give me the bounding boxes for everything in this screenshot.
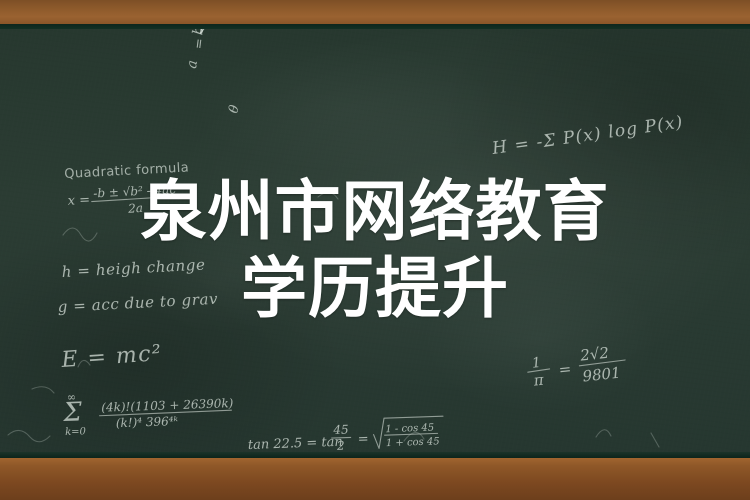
chalk-triangle-equals: = xyxy=(191,37,207,50)
chalk-tangent-radical-num: 1 - cos 45 xyxy=(385,422,434,435)
chalk-pi-rhs-num: 2√2 xyxy=(578,344,609,365)
chalk-quadratic-denominator: 2a xyxy=(127,201,144,216)
chalk-tangent-radical-den: 1 + cos 45 xyxy=(386,436,440,449)
chalk-tangent-equals: = xyxy=(357,432,368,447)
chalk-pi-identity: 1 π = 2√2 9801 xyxy=(526,342,628,391)
frame-bottom xyxy=(0,458,750,500)
chalk-pi-lhs-den: π xyxy=(532,371,546,390)
chalk-sum-symbol: Σ xyxy=(62,397,83,428)
chalk-pi-rhs-den: 9801 xyxy=(582,364,622,386)
chalk-ramanujan-series: ∞ Σ k=0 (4k)!(1103 + 26390k) (k!)⁴ 396⁴ᵏ xyxy=(62,385,235,438)
chalk-sum-upper: ∞ xyxy=(67,391,77,404)
chalk-height-text: h = heigh change xyxy=(61,255,206,281)
chalk-gravity-text: g = acc due to grav xyxy=(57,290,218,316)
chalk-entropy-text: H = -Σ P(x) log P(x) xyxy=(490,112,685,159)
chalk-entropy-formula: H = -Σ P(x) log P(x) xyxy=(490,112,685,159)
chalk-quadratic-lhs: x = xyxy=(67,193,90,209)
board-grain-texture xyxy=(0,29,750,458)
chalk-triangle-label-a: a xyxy=(184,59,201,69)
chalkboard-surface: a = b c θ Quadratic formula x = -b ± √b²… xyxy=(0,29,750,458)
chalk-ramanujan-denominator: (k!)⁴ 396⁴ᵏ xyxy=(116,414,179,430)
board-smudge-texture xyxy=(0,29,750,458)
chalk-height-note: h = heigh change xyxy=(61,255,206,281)
frame-top xyxy=(0,0,750,24)
chalk-ramanujan-numerator: (4k)!(1103 + 26390k) xyxy=(101,396,234,415)
chalk-tangent-frac-num: 45 xyxy=(332,422,349,437)
chalk-stray-marks xyxy=(8,192,659,447)
chalk-triangle-label-b: b xyxy=(190,29,207,36)
chalk-pi-lhs-num: 1 xyxy=(531,355,542,372)
chalk-writing-layer: a = b c θ Quadratic formula x = -b ± √b²… xyxy=(0,29,750,458)
chalk-mass-energy: E = mc² xyxy=(60,341,163,373)
chalk-gravity-note: g = acc due to grav xyxy=(57,290,218,316)
chalk-tangent-frac-den: 2 xyxy=(336,439,345,453)
frame-lip-top xyxy=(0,24,750,29)
chalk-quadratic-numerator: -b ± √b² - 4ac xyxy=(93,182,177,200)
chalkboard-poster: a = b c θ Quadratic formula x = -b ± √b²… xyxy=(0,0,750,500)
chalk-pi-equals: = xyxy=(558,360,572,379)
chalk-quadratic-formula: Quadratic formula x = -b ± √b² - 4ac 2a xyxy=(64,160,191,218)
chalk-triangle-angle: θ xyxy=(226,103,243,115)
chalk-mass-energy-text: E = mc² xyxy=(60,341,163,373)
chalk-quadratic-label: Quadratic formula xyxy=(64,160,190,182)
chalk-tangent-identity: tan 22.5 = tan 45 2 = 1 - cos 45 1 + cos… xyxy=(247,416,444,456)
chalk-tangent-lhs: tan 22.5 = tan xyxy=(248,435,343,453)
chalk-triangle-diagram xyxy=(196,29,266,40)
chalk-sum-lower: k=0 xyxy=(65,426,87,438)
